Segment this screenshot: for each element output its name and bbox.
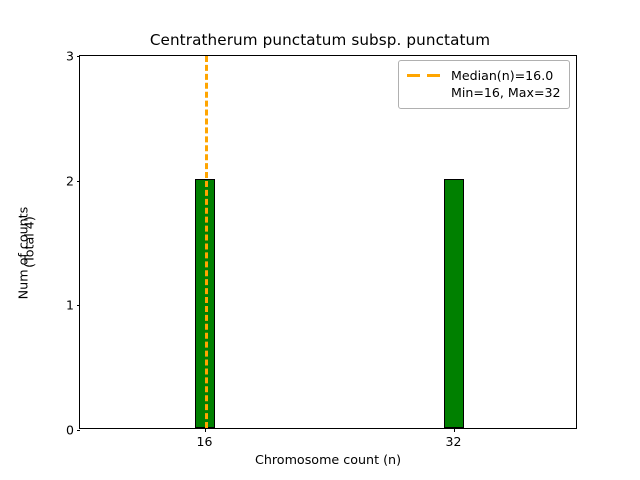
y-tick-label-3: 3 bbox=[66, 49, 74, 64]
y-axis-sublabel-wrapper: (Total 4) bbox=[18, 55, 40, 429]
x-tick-label-32: 32 bbox=[446, 434, 462, 449]
plot-area: 0 1 2 3 16 32 bbox=[79, 55, 577, 429]
y-tick-mark-2 bbox=[77, 181, 81, 182]
x-tick-label-16: 16 bbox=[197, 434, 213, 449]
legend-minmax-label: Min=16, Max=32 bbox=[451, 84, 561, 101]
matplotlib-figure: Centratherum punctatum subsp. punctatum … bbox=[0, 0, 640, 480]
x-tick-mark-16 bbox=[205, 428, 206, 432]
y-axis-sublabel: (Total 4) bbox=[22, 216, 37, 268]
y-tick-label-0: 0 bbox=[66, 423, 74, 438]
y-tick-mark-0 bbox=[77, 430, 81, 431]
y-tick-label-1: 1 bbox=[66, 298, 74, 313]
legend-entry-median: Median(n)=16.0 Min=16, Max=32 bbox=[407, 67, 561, 101]
y-tick-mark-3 bbox=[77, 56, 81, 57]
y-tick-label-2: 2 bbox=[66, 173, 74, 188]
y-tick-mark-1 bbox=[77, 305, 81, 306]
legend-entry-text: Median(n)=16.0 Min=16, Max=32 bbox=[451, 67, 561, 101]
plot-inner bbox=[80, 56, 576, 428]
x-axis-label: Chromosome count (n) bbox=[79, 452, 577, 467]
chart-title: Centratherum punctatum subsp. punctatum bbox=[0, 31, 640, 49]
median-line bbox=[205, 56, 208, 428]
legend-dash-sample-icon bbox=[407, 67, 443, 84]
bar-32 bbox=[444, 179, 464, 428]
x-tick-mark-32 bbox=[454, 428, 455, 432]
chart-legend: Median(n)=16.0 Min=16, Max=32 bbox=[398, 60, 570, 109]
legend-median-label: Median(n)=16.0 bbox=[451, 68, 553, 83]
